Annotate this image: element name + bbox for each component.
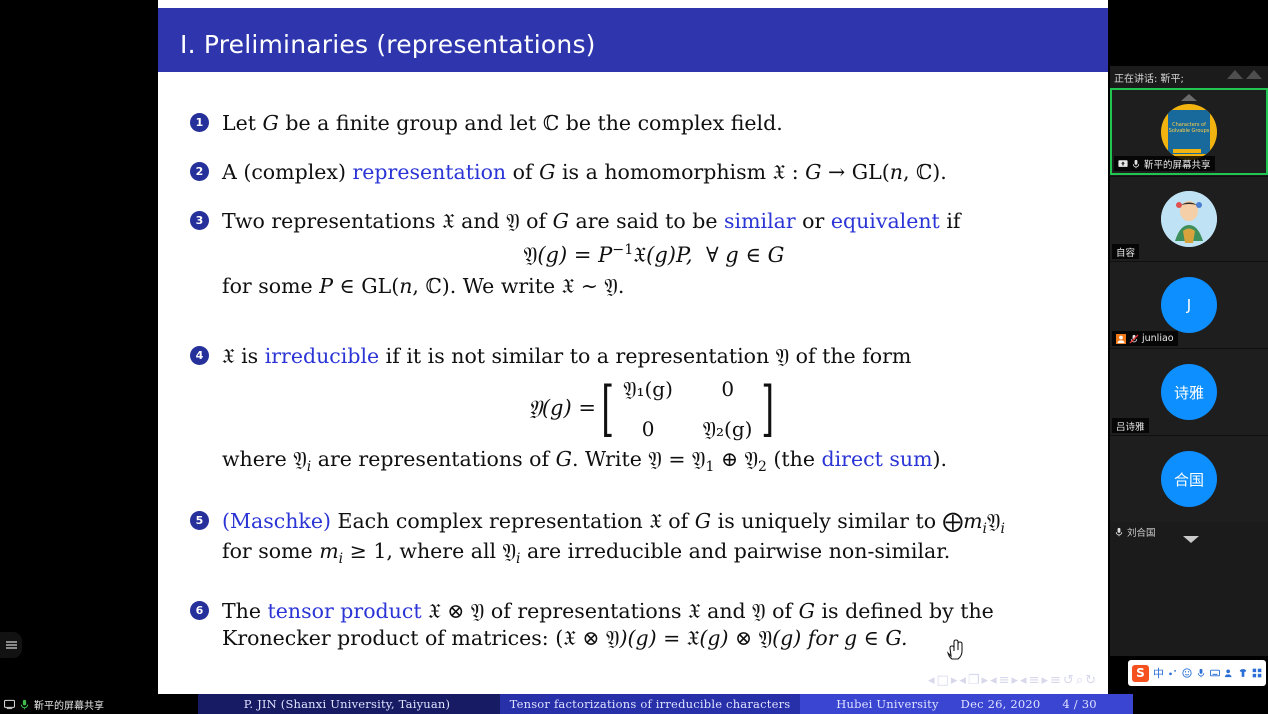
avatar: 诗雅 [1161,364,1217,420]
share-icon [1118,159,1128,169]
item-4-follow-y3: 𝔜 [692,447,705,471]
participant-name: 吕诗雅 [1116,419,1145,433]
zoom-participant-filmstrip: 正在讲话: 靳平; Characters of Solvable Groups [1110,66,1268,656]
item-3-math-g: G [553,209,569,233]
item-6-line2-a: Kronecker product of matrices: ( [222,626,563,650]
item-2-math-g2: G [805,160,821,184]
item-4-follow-b: are representations of [311,447,555,471]
keyboard-icon[interactable] [1210,668,1220,678]
item-2-text-a: A (complex) [222,160,352,184]
eq3-rhs-arg: (g) [646,243,676,267]
item-4-follow-y2: 𝔜 [648,447,661,471]
item-3-text-a: Two representations [222,209,442,233]
matrix-cell-12: 0 [721,376,734,402]
scroll-down-arrow-icon[interactable] [1183,536,1199,543]
dock-line-3 [6,647,17,649]
item-6-line2-c: (g) [699,626,728,650]
item-6-line2-b: )(g) = [619,626,686,650]
participant-name-chip: 吕诗雅 [1112,418,1149,433]
nav-next-subsection-icon[interactable]: ▸ [1012,673,1019,688]
participant-name-chip-last: 刘合国 [1110,521,1268,543]
avatar [1161,191,1217,247]
item-3-follow-c: , ℂ). We write [412,274,561,298]
host-icon [1116,334,1126,344]
emoji-icon[interactable] [1182,668,1192,678]
item-4-frak-x: 𝔛 [222,344,235,368]
item-3-followup: for some P ∈ GL(n, ℂ). We write 𝔛 ∼ 𝔜. [222,273,1086,300]
mic-icon [1131,159,1141,169]
item-2-arrow: → [822,160,852,184]
desktop-screen: I. Preliminaries (representations) 1 Let… [0,0,1268,714]
nav-frame-icon[interactable]: ❐ [968,673,980,688]
eq3-in: ∈ [739,243,768,267]
participant-tile[interactable]: 诗雅 吕诗雅 [1110,348,1268,435]
bracket-left-icon: [ [601,385,614,433]
eq3-rhs-frak: 𝔛 [633,243,646,267]
item-6-math-g: G [799,599,815,623]
thumbnail-accent-bar [1173,149,1201,153]
item-4-follow-two: 2 [758,459,767,475]
item-6-line2-d: (g) for g ∈ G. [772,626,907,650]
matrix-cell-22: 𝔜₂(g) [703,416,753,442]
chevron-up-icon-2[interactable] [1246,70,1262,79]
nav-section-icon[interactable]: ≡ [1029,673,1040,688]
item-4-text-a: is [235,344,265,368]
matrix-grid: 𝔜₁(g) 0 0 𝔜₂(g) [619,376,756,442]
nav-next-section-icon[interactable]: ▸ [1041,673,1048,688]
sogou-logo-icon[interactable]: S [1132,665,1149,682]
item-6-text-e: of [766,599,799,623]
item-1-complex-symbol: ℂ [543,111,559,135]
item-6-frak-y2: 𝔜 [752,599,765,623]
item-3-equation: 𝔜(g) = P−1𝔛(g)P, ∀ g ∈ G [222,235,1086,273]
item-6-text-d: and [701,599,753,623]
item-5-text-b: of [662,509,695,533]
item-3-frak-y: 𝔜 [506,209,519,233]
nav-toc-icon[interactable]: ≡ [1050,673,1061,688]
item-3-follow-p: P [319,274,333,298]
list-item: 2 A (complex) representation of G is a h… [158,159,1108,186]
item-3-frak-x: 𝔛 [442,209,455,233]
item-6-frak-y: 𝔜 [471,599,484,623]
participant-name-chip: 自容 [1112,244,1139,259]
item-3-follow-sim: ∼ [574,274,604,298]
item-2-tail: , ℂ). [903,160,947,184]
footer-page-number: 4 / 30 [1062,697,1096,711]
item-2-frak-x: 𝔛 [773,160,786,184]
item-5-oplus-icon: ⨁ [943,509,964,533]
list-item: 1 Let G be a finite group and let ℂ be t… [158,110,1108,137]
item-6-line2-ot: ⊗ [576,626,606,650]
item-5-math-g: G [695,509,711,533]
skin-icon[interactable] [1238,668,1248,678]
avatar: Characters of Solvable Groups [1161,104,1217,160]
list-item: 5 (Maschke) Each complex representation … [158,508,1108,568]
footer-venue: Hubei University [836,697,938,711]
item-5-m: m [963,509,982,533]
item-4-follow-g: G [556,447,572,471]
item-3-text-d: are said to be [569,209,724,233]
item-2-text-b: of [506,160,539,184]
slide-body: 1 Let G be a finite group and let ℂ be t… [158,78,1108,663]
item-4-follow-eq: = [662,447,692,471]
participant-tile[interactable]: 自容 [1110,176,1268,261]
eq3-p: P [598,243,612,267]
matrix-cell-11: 𝔜₁(g) [623,376,673,402]
item-4-followup: where 𝔜i are representations of G. Write… [222,446,1086,476]
screen-share-icon [4,699,15,710]
bracket-right-icon: ] [762,385,775,433]
item-4-link-irreducible[interactable]: irreducible [265,344,379,368]
list-item: 4 𝔛 is irreducible if it is not similar … [158,343,1108,476]
bullet-2: 2 [190,162,209,181]
item-4-follow-oplus: ⊕ [714,447,744,471]
item-3-follow-x: 𝔛 [562,274,575,298]
nav-prev-section-icon[interactable]: ◂ [1020,673,1027,688]
nav-forward-icon[interactable]: ↻ [1085,673,1096,688]
item-2-text-c: is a homomorphism [555,160,772,184]
item-6-text-a: The [222,599,268,623]
dock-line-2 [6,644,17,646]
dock-line-1 [6,641,17,643]
item-3-follow-b: ∈ GL( [333,274,399,298]
item-5-line2-m: m [319,539,338,563]
eq3-G: G [768,243,785,267]
nav-prev-frame-icon[interactable]: ◂ [959,673,966,688]
participant-name: junliao [1142,333,1174,344]
item-3-follow-d: . [618,274,625,298]
item-5-line2: for some mi ≥ 1, where all 𝔜i are irredu… [222,538,1086,568]
item-5-line2-b: ≥ 1, where all [343,539,502,563]
participant-name: 刘合国 [1127,525,1156,539]
footer-talk-title: Tensor factorizations of irreducible cha… [500,694,800,714]
item-4-follow-e: ). [933,447,948,471]
mic-icon [1114,527,1124,537]
item-4-link-direct-sum[interactable]: direct sum [822,447,933,471]
item-6-frak-x: 𝔛 [428,599,441,623]
user-icon[interactable] [1224,668,1234,678]
matrix-lhs: 𝔜(g) = [528,395,596,422]
avatar-photo-icon [1161,191,1217,247]
item-3-text-f: if [940,209,961,233]
voice-icon[interactable] [1196,668,1206,678]
ime-mode-label[interactable]: 中 [1153,665,1164,681]
punctuation-icon[interactable] [1168,668,1178,678]
item-6-text-c: of representations [484,599,688,623]
mouse-cursor-hand-icon [942,636,968,664]
item-3-follow-y: 𝔜 [604,274,617,298]
item-3-follow-a: for some [222,274,319,298]
nav-next-slide-icon[interactable]: ▸ [951,673,958,688]
item-5-line2-a: for some [222,539,319,563]
bullet-5: 5 [190,511,209,530]
nav-prev-subsection-icon[interactable]: ◂ [990,673,997,688]
taskbar[interactable]: 靳平的屏幕共享 [0,694,198,714]
item-2-math-g: G [539,160,555,184]
mic-muted-icon [1129,334,1139,344]
bullet-6: 6 [190,601,209,620]
participant-tile-screen-share[interactable]: Characters of Solvable Groups 靳平的屏幕共享 [1110,88,1268,175]
item-2-text-d: : [785,160,805,184]
item-4-follow-y4: 𝔜 [745,447,758,471]
list-item: 3 Two representations 𝔛 and 𝔜 of G are s… [158,208,1108,300]
item-6-text-f: is defined by the [815,599,994,623]
nav-search-icon[interactable]: ⌕ [1076,673,1083,688]
item-5-link-maschke[interactable]: (Maschke) [222,509,331,533]
nav-prev-slide-icon[interactable]: ◂ [928,673,935,688]
ime-toolbar[interactable]: S 中 [1128,660,1266,686]
item-4-follow-y: 𝔜 [293,447,306,471]
item-5-text-a: Each complex representation [331,509,649,533]
participant-name-chip: junliao [1112,331,1178,346]
item-3-link-similar[interactable]: similar [724,209,796,233]
chevron-up-icon-1[interactable] [1227,70,1243,79]
item-5-line2-c: are irreducible and pairwise non-similar… [521,539,951,563]
item-6-line2-x: 𝔛 [563,626,576,650]
nav-back-icon[interactable]: ↺ [1063,673,1074,688]
item-3-text-b: and [455,209,507,233]
item-3-link-equivalent[interactable]: equivalent [831,209,940,233]
item-4-follow-d: (the [767,447,822,471]
item-2-gl: GL( [852,160,890,184]
nav-next-frame-icon[interactable]: ▸ [982,673,989,688]
item-6-line2-ot2: ⊗ [729,626,759,650]
filmstrip-collapse-control[interactable] [1227,70,1262,79]
eq3-lhs-arg: (g) [537,243,567,267]
bullet-3: 3 [190,211,209,230]
left-dock-menu-icon[interactable] [0,632,22,658]
participant-name: 靳平的屏幕共享 [1144,157,1211,171]
matrix-cell-21: 0 [642,416,655,442]
item-4-follow-a: where [222,447,293,471]
item-3-text-c: of [520,209,553,233]
item-1-math-g: G [263,111,279,135]
item-4-follow-c: . Write [572,447,648,471]
eq3-equals: = [567,243,598,267]
eq3-g: g [725,243,738,267]
eq3-p2: P, [676,243,693,267]
page-title: I. Preliminaries (representations) [180,30,596,59]
item-2-link-representation[interactable]: representation [352,160,506,184]
item-6-otimes-icon: ⊗ [441,599,471,623]
item-5-line2-y: 𝔜 [503,539,516,563]
participant-name: 自容 [1116,245,1135,259]
apps-icon[interactable] [1252,668,1262,678]
eq3-lhs-frak: 𝔜 [524,243,538,267]
avatar: J [1161,277,1217,333]
nav-slide-icon[interactable]: □ [937,673,949,688]
mic-icon [19,699,30,710]
eq3-forall: ∀ [706,243,725,267]
item-4-text-b: if it is not similar to a representation [379,344,776,368]
participant-tile[interactable]: 合国 [1110,435,1268,522]
item-6-frak-x2: 𝔛 [688,599,701,623]
item-4-matrix-equation: 𝔜(g) = [ 𝔜₁(g) 0 0 𝔜₂(g) ] [222,370,1086,446]
item-6-line2-y2: 𝔜 [759,626,772,650]
scroll-up-arrow-icon[interactable] [1181,94,1197,101]
item-1-text-c: be the complex field. [559,111,783,135]
taskbar-label: 靳平的屏幕共享 [34,697,104,712]
item-5-y-sub: i [1000,521,1004,537]
item-4-frak-y: 𝔜 [776,344,789,368]
item-5-frak-y: 𝔜 [987,509,1000,533]
item-3-text-e: or [796,209,831,233]
footer-meta: Hubei University Dec 26, 2020 4 / 30 [800,694,1133,714]
footer-date: Dec 26, 2020 [961,697,1041,711]
item-5-text-c: is uniquely similar to [711,509,942,533]
thumbnail-cover-text: Characters of Solvable Groups [1168,110,1210,154]
participant-tile[interactable]: J junliao [1110,261,1268,348]
bullet-4: 4 [190,346,209,365]
avatar: 合国 [1161,451,1217,507]
item-4-text-c: of the form [789,344,911,368]
item-3-follow-n: n [399,274,412,298]
eq3-exp: −1 [612,242,633,258]
item-6-link-tensor-product[interactable]: tensor product [268,599,422,623]
footer-author: P. JIN (Shanxi University, Taiyuan) [194,694,500,714]
item-6-line2-x2: 𝔛 [687,626,700,650]
item-1-text-a: Let [222,111,263,135]
shared-slide: I. Preliminaries (representations) 1 Let… [158,0,1108,694]
slide-title-bar: I. Preliminaries (representations) [158,8,1108,72]
item-2-n: n [890,160,903,184]
nav-subsection-icon[interactable]: ≡ [999,673,1010,688]
bullet-1: 1 [190,113,209,132]
participant-name-chip: 靳平的屏幕共享 [1114,156,1215,171]
item-6-line2-y: 𝔜 [606,626,619,650]
item-1-text-b: be a finite group and let [279,111,543,135]
item-5-frak-x: 𝔛 [649,509,662,533]
